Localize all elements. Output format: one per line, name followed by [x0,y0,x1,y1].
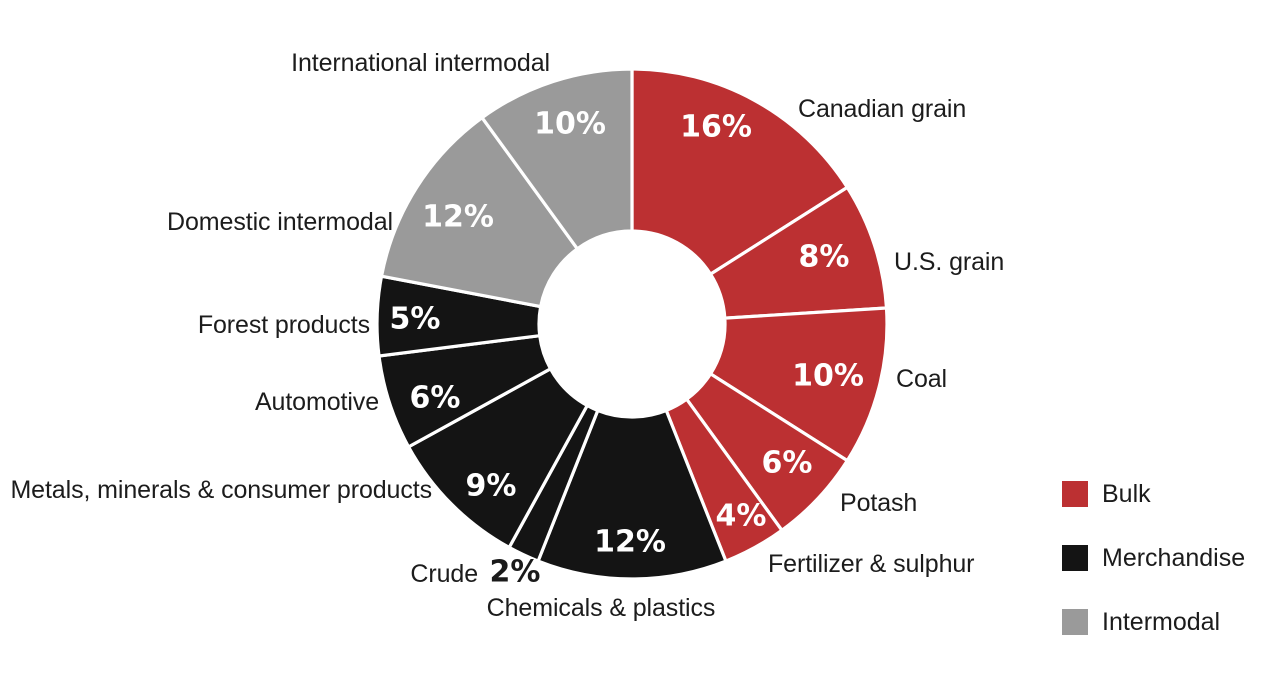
legend-swatch-icon [1062,481,1088,507]
slice-percentage-label: 6% [410,381,461,416]
slice-group [377,69,887,579]
slice-percentage-label: 12% [594,525,666,560]
slice-percentage-label: 16% [680,110,752,145]
slice-category-label: Potash [840,491,917,516]
legend-label: Merchandise [1102,546,1245,571]
slice-category-label: Fertilizer & sulphur [768,552,974,577]
slice-percentage-label: 8% [799,240,850,275]
slice-percentage-label: 2% [490,555,541,590]
legend-item[interactable]: Bulk [1062,462,1262,526]
slice-percentage-label: 10% [534,107,606,142]
slice-category-label: International intermodal [0,51,550,76]
slice-category-label: Domestic intermodal [0,210,393,235]
legend-swatch-icon [1062,609,1088,635]
legend: BulkMerchandiseIntermodal [1062,462,1262,654]
slice-category-label: Crude [0,562,478,587]
slice-category-label: Coal [896,367,947,392]
legend-item[interactable]: Intermodal [1062,590,1262,654]
slice-category-label: Metals, minerals & consumer products [0,478,432,503]
slice-percentage-label: 6% [762,446,813,481]
donut-chart: 16%8%10%6%4%12%2%9%6%5%12%10% Canadian g… [0,0,1266,673]
slice-percentage-label: 10% [792,359,864,394]
legend-swatch-icon [1062,545,1088,571]
legend-label: Bulk [1102,482,1151,507]
slice-percentage-label: 5% [390,302,441,337]
slice-category-label: Forest products [0,313,370,338]
slice-category-label: Chemicals & plastics [0,596,1202,621]
slice-category-label: Canadian grain [798,97,966,122]
slice-percentage-label: 12% [422,200,494,235]
slice-category-label: Automotive [0,390,379,415]
slice-category-label: U.S. grain [894,250,1004,275]
legend-item[interactable]: Merchandise [1062,526,1262,590]
slice-percentage-label: 9% [466,469,517,504]
slice-percentage-label: 4% [716,499,767,534]
legend-label: Intermodal [1102,610,1220,635]
